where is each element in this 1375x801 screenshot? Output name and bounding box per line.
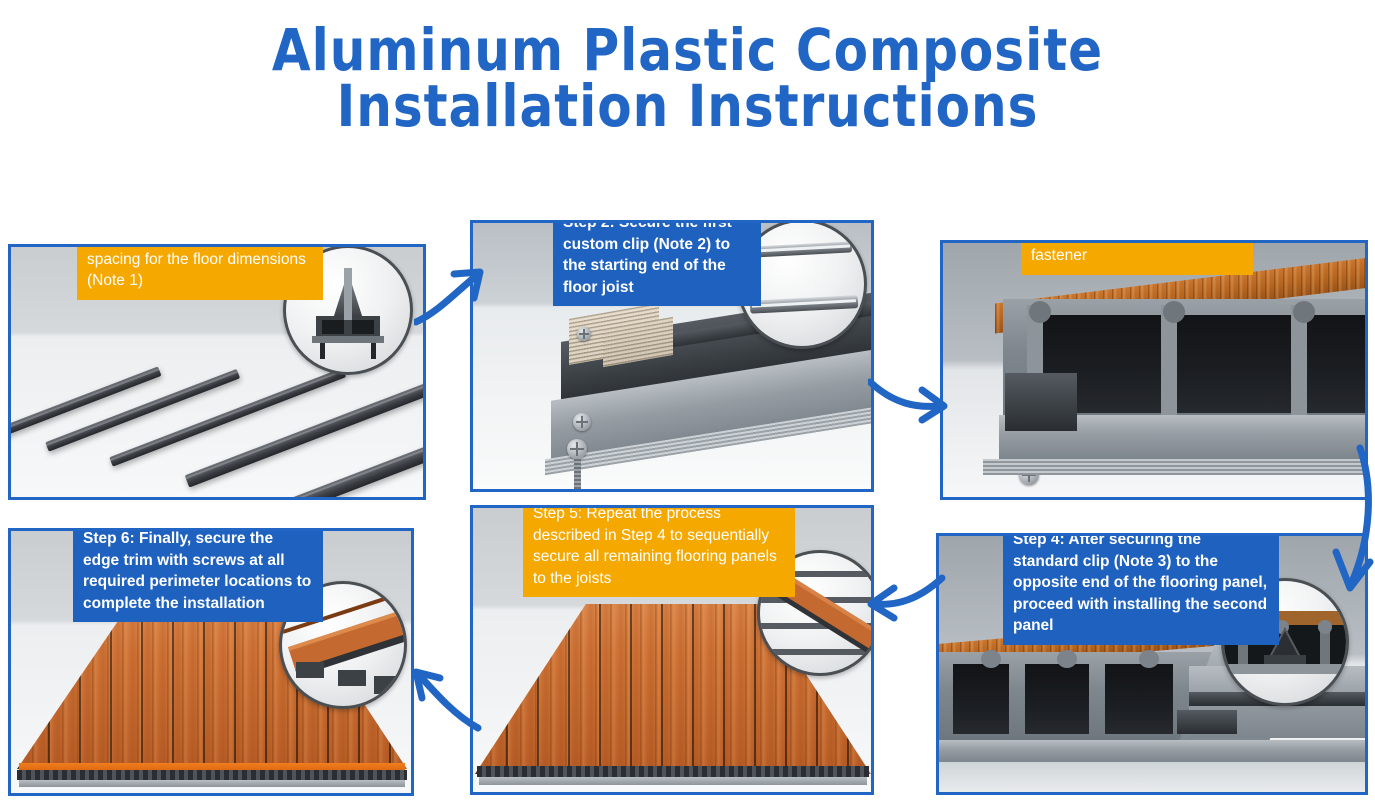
step-6-caption: Step 6: Finally, secure the edge trim wi… <box>73 528 323 622</box>
arrow-step2-to-step3 <box>868 368 952 426</box>
clip-groove-2 <box>1163 301 1185 323</box>
clip-groove-1 <box>981 650 1001 668</box>
page-title-line-2: Installation Instructions <box>28 78 1348 134</box>
arrow-step4-to-step5 <box>866 568 946 626</box>
joist-screw-upper <box>573 413 591 431</box>
poster-root: Aluminum Plastic Composite Installation … <box>0 0 1375 801</box>
anchor-bolt <box>574 457 581 489</box>
ground-shadow <box>939 762 1365 792</box>
deck-support-rail <box>19 780 405 787</box>
clip-groove-3 <box>1293 301 1315 323</box>
panel-chamber-2 <box>1025 664 1089 734</box>
step-5-caption: Step 5: Repeat the process described in … <box>523 505 795 597</box>
step-2-caption: Step 2: Secure the first custom clip (No… <box>553 220 761 306</box>
clip-base <box>1177 710 1237 734</box>
joist-base <box>983 459 1365 475</box>
page-title-line-1: Aluminum Plastic Composite <box>28 22 1348 78</box>
clip-groove-3 <box>1139 650 1159 668</box>
clip-assembly <box>1005 373 1077 431</box>
arrow-step5-to-step6 <box>402 650 484 734</box>
joist-screw-lower <box>567 439 587 459</box>
page-title: Aluminum Plastic Composite Installation … <box>28 22 1348 134</box>
panel-chamber-3 <box>1105 664 1173 734</box>
deck-front-edge <box>17 770 407 780</box>
deck-front-edge <box>477 766 869 777</box>
step-4-caption: Step 4: After securing the standard clip… <box>1003 533 1279 645</box>
step-3-caption: Step 3: Engage the flooring panel with t… <box>1021 240 1253 275</box>
step-5-panel[interactable]: Step 5: Repeat the process described in … <box>470 505 874 795</box>
panel-chamber-1 <box>953 664 1009 734</box>
step-2-panel[interactable]: Step 2: Secure the first custom clip (No… <box>470 220 874 492</box>
panel-chamber-3 <box>1305 315 1365 413</box>
step-1-caption: Step 1 : Lay out and secure the floor jo… <box>77 244 323 300</box>
arrow-step1-to-step2 <box>414 252 494 330</box>
step-1-panel[interactable]: Step 1 : Lay out and secure the floor jo… <box>8 244 426 500</box>
arrow-step3-to-step4 <box>1330 440 1375 600</box>
clip-groove-2 <box>1057 650 1077 668</box>
clip-screw <box>577 327 591 341</box>
panel-chamber-2 <box>1175 315 1293 413</box>
step-3-panel[interactable]: Step 3: Engage the flooring panel with t… <box>940 240 1368 500</box>
step-6-panel[interactable]: Step 6: Finally, secure the edge trim wi… <box>8 528 414 796</box>
edge-trim <box>19 763 405 770</box>
joist-base <box>939 740 1365 762</box>
clip-groove-1 <box>1029 301 1051 323</box>
deck-support-rail <box>479 777 867 785</box>
step-3-illustration <box>943 243 1365 497</box>
step-4-panel[interactable]: Step 4: After securing the standard clip… <box>936 533 1368 795</box>
